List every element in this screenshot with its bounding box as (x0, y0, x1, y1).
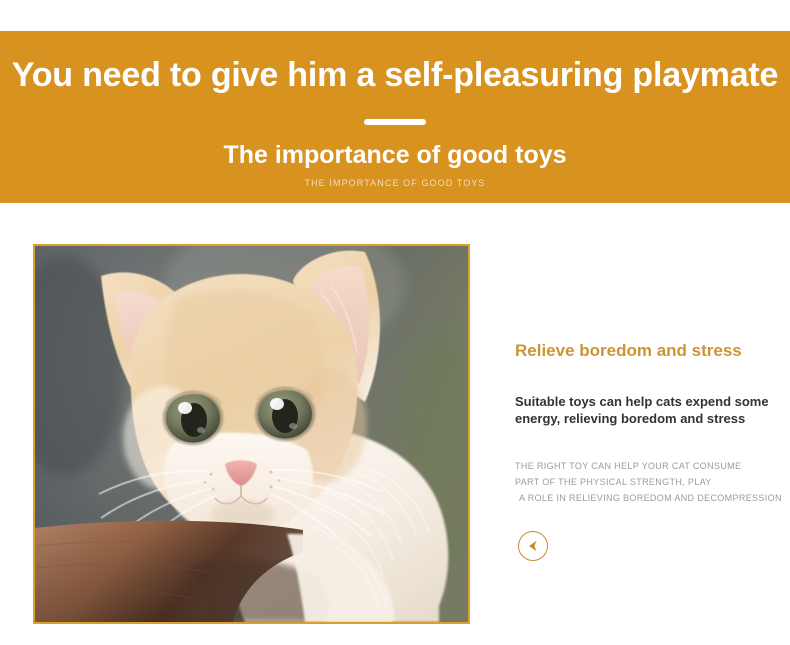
prev-button[interactable] (518, 531, 548, 561)
banner-title: You need to give him a self-pleasuring p… (0, 55, 790, 95)
info-sub-line-1: THE RIGHT TOY CAN HELP YOUR CAT CONSUME (515, 458, 780, 474)
hero-banner: You need to give him a self-pleasuring p… (0, 31, 790, 203)
banner-divider (364, 119, 426, 125)
info-body-text: Suitable toys can help cats expend some … (515, 362, 780, 427)
kitten-photo (35, 246, 468, 622)
banner-subtitle: The importance of good toys (0, 140, 790, 170)
info-column: Relieve boredom and stress Suitable toys… (515, 340, 780, 506)
kitten-photo-frame (33, 244, 470, 624)
info-heading: Relieve boredom and stress (515, 340, 780, 362)
info-sub-text: THE RIGHT TOY CAN HELP YOUR CAT CONSUME … (515, 427, 780, 506)
info-sub-line-3: A ROLE IN RELIEVING BOREDOM AND DECOMPRE… (515, 490, 780, 506)
banner-caption: THE IMPORTANCE OF GOOD TOYS (0, 177, 790, 189)
page-root: You need to give him a self-pleasuring p… (0, 0, 790, 645)
info-sub-line-2: PART OF THE PHYSICAL STRENGTH, PLAY (515, 474, 780, 490)
